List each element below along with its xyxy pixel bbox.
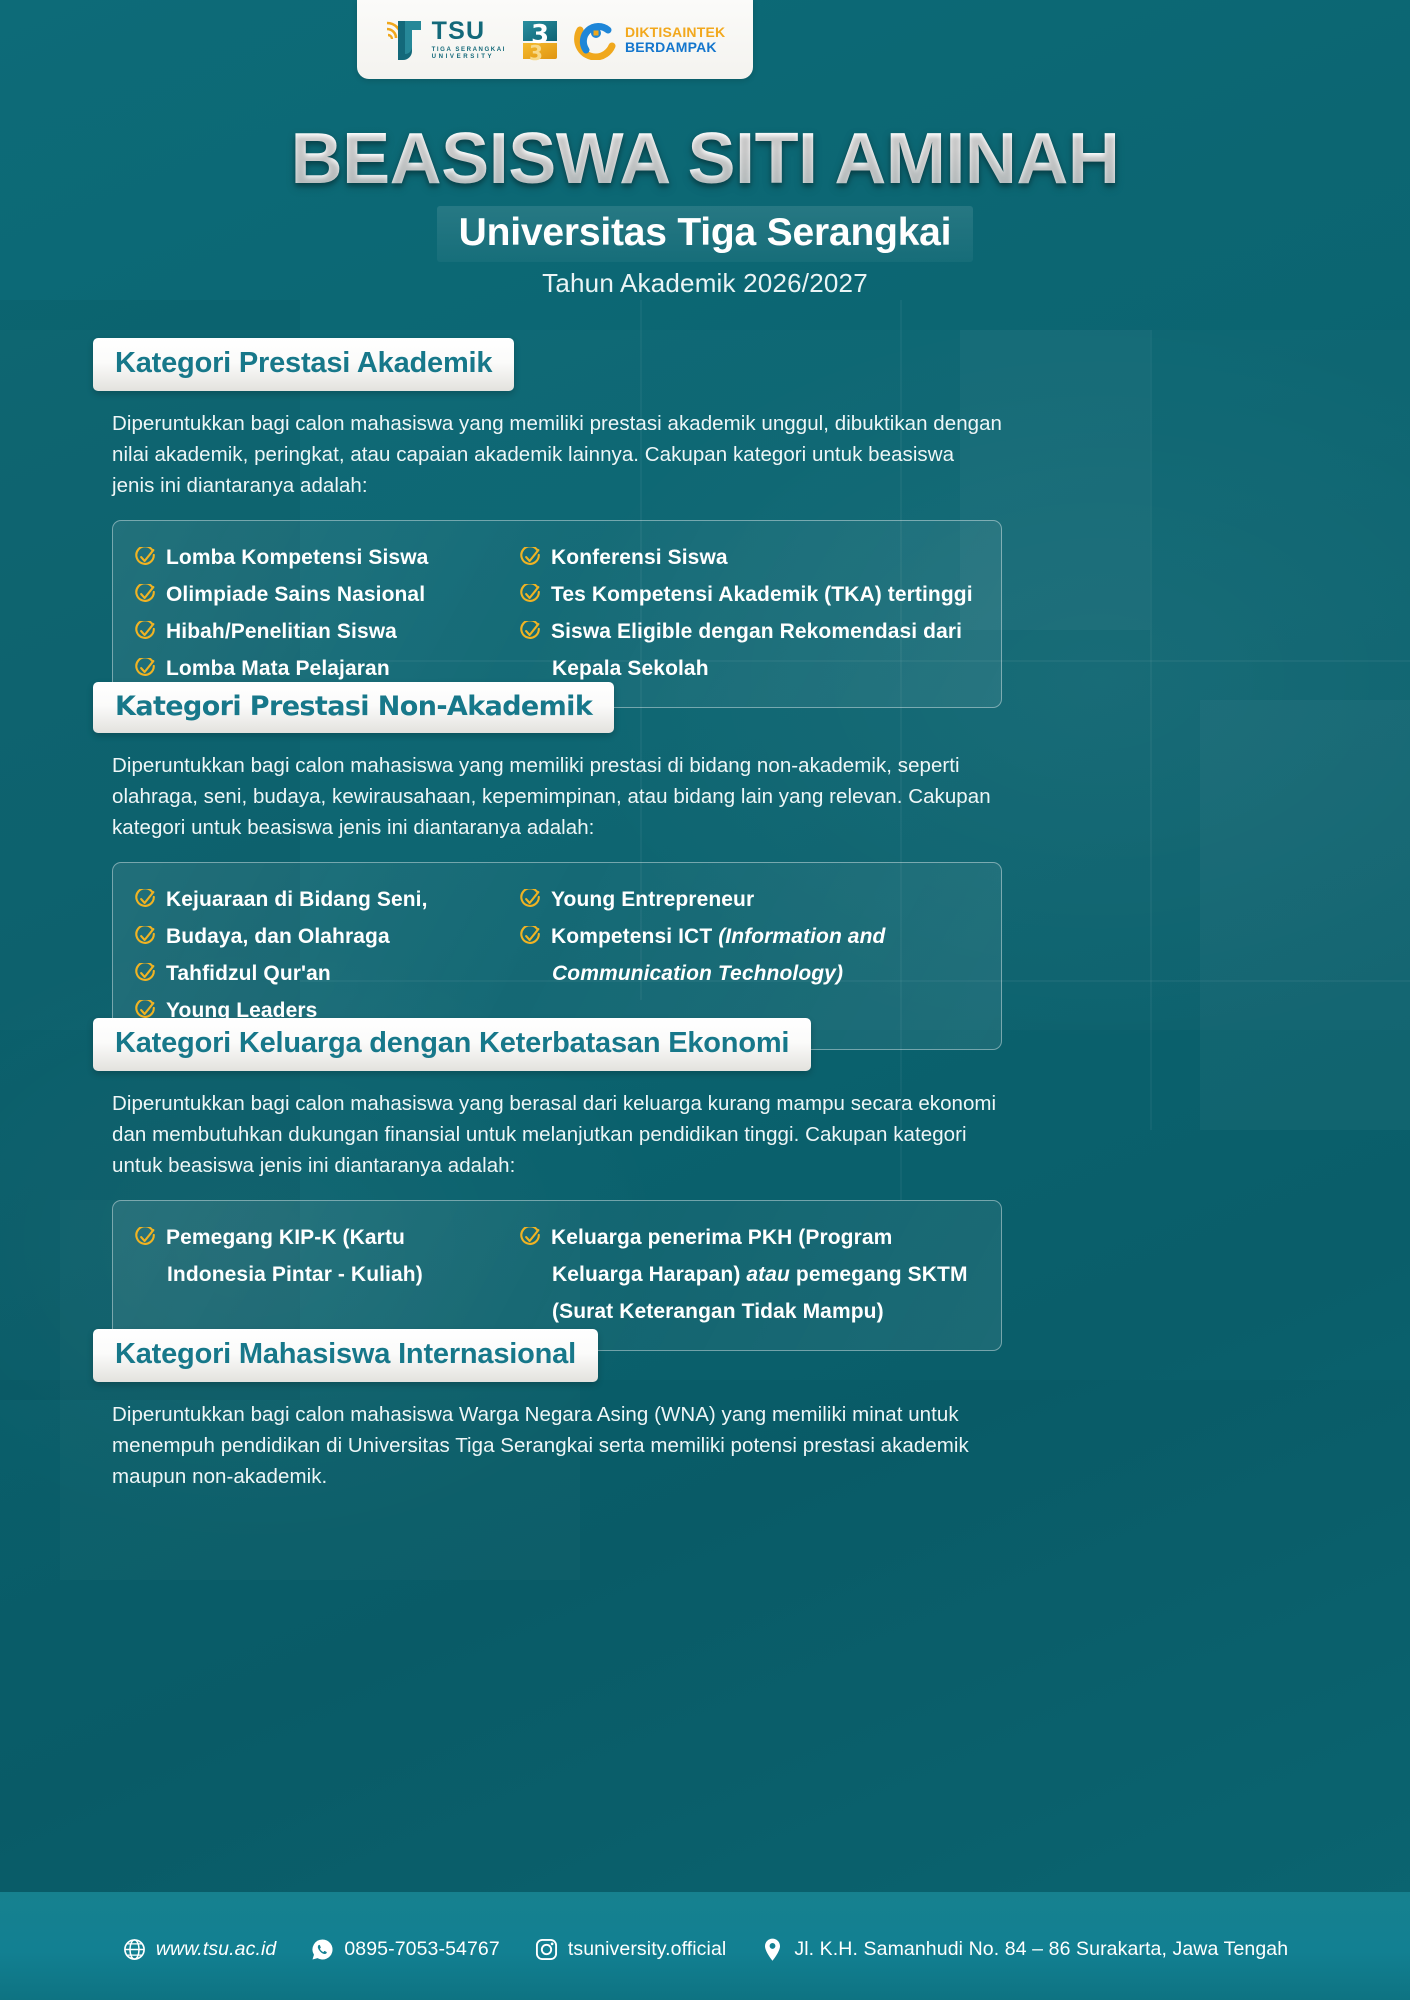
section-3-left-column: Pemegang KIP-K (Kartu Indonesia Pintar -…: [135, 1219, 510, 1330]
footer-address-label: Jl. K.H. Samanhudi No. 84 – 86 Surakarta…: [794, 1938, 1288, 1961]
check-circle-icon: [520, 926, 541, 947]
whatsapp-icon: [310, 1937, 335, 1962]
tsu-line2: UNIVERSITY: [432, 54, 506, 60]
check-circle-icon: [135, 658, 156, 679]
list-item-plain: Keluarga Harapan): [552, 1263, 746, 1286]
list-item-plain: Kompetensi ICT: [551, 925, 718, 948]
diktisaintek-line2: BERDAMPAK: [625, 40, 725, 55]
footer-address: Jl. K.H. Samanhudi No. 84 – 86 Surakarta…: [760, 1937, 1288, 1962]
list-item-label: Budaya, dan Olahraga: [166, 921, 510, 953]
list-item-label: Kejuaraan di Bidang Seni,: [166, 884, 510, 916]
section-mahasiswa-internasional: Kategori Mahasiswa Internasional Diperun…: [0, 1329, 1410, 1492]
footer-instagram[interactable]: tsuniversity.official: [534, 1937, 727, 1962]
list-item-label: Kompetensi ICT (Information and: [551, 921, 977, 953]
list-item-label: Siswa Eligible dengan Rekomendasi dari: [551, 616, 977, 648]
list-item: Tahfidzul Qur'an: [135, 955, 510, 992]
academic-year: Tahun Akademik 2026/2027: [0, 268, 1410, 299]
section-3-description: Diperuntukkan bagi calon mahasiswa yang …: [112, 1088, 1002, 1181]
list-item-label: Hibah/Penelitian Siswa: [166, 616, 510, 648]
check-circle-icon: [520, 889, 541, 910]
tsu-wordmark: TSU TIGA SERANGKAI UNIVERSITY: [432, 19, 506, 61]
list-item-label: Lomba Kompetensi Siswa: [166, 542, 510, 574]
tiga-serangkai-3-icon: 3 3: [519, 17, 561, 63]
list-item-label: Pemegang KIP-K (Kartu: [166, 1222, 510, 1254]
list-item-label: (Surat Keterangan Tidak Mampu): [552, 1296, 977, 1328]
list-item-label: Young Entrepreneur: [551, 884, 977, 916]
tsu-abbr: TSU: [432, 19, 506, 44]
list-item-label: Indonesia Pintar - Kuliah): [167, 1259, 510, 1291]
footer-phone[interactable]: 0895-7053-54767: [310, 1937, 499, 1962]
tsu-logo: TSU TIGA SERANGKAI UNIVERSITY: [385, 17, 506, 63]
location-pin-icon: [760, 1937, 785, 1962]
check-circle-icon: [135, 1227, 156, 1248]
section-1-right-column: Konferensi Siswa Tes Kompetensi Akademik…: [520, 539, 977, 687]
check-circle-icon: [520, 1227, 541, 1248]
list-item-italic: (Information and: [718, 925, 885, 948]
list-item: Kompetensi ICT (Information and: [520, 918, 977, 955]
check-circle-icon: [135, 926, 156, 947]
list-item-continuation: (Surat Keterangan Tidak Mampu): [520, 1293, 977, 1330]
diktisaintek-logo: DIKTISAINTEK BERDAMPAK: [574, 20, 725, 60]
diktisaintek-line1: DIKTISAINTEK: [625, 25, 725, 40]
list-item-plain2: pemegang SKTM: [790, 1263, 968, 1286]
subtitle-wrap: Universitas Tiga Serangkai: [0, 206, 1410, 262]
section-2-description: Diperuntukkan bagi calon mahasiswa yang …: [112, 750, 1002, 843]
check-circle-icon: [135, 963, 156, 984]
list-item: Young Entrepreneur: [520, 881, 977, 918]
list-item-label: Kepala Sekolah: [552, 653, 977, 685]
section-3-right-column: Keluarga penerima PKH (Program Keluarga …: [520, 1219, 977, 1330]
list-item-label: Tahfidzul Qur'an: [166, 958, 510, 990]
list-item-label: Olimpiade Sains Nasional: [166, 579, 510, 611]
page-subtitle: Universitas Tiga Serangkai: [437, 206, 974, 262]
section-1-list-box: Lomba Kompetensi Siswa Olimpiade Sains N…: [112, 520, 1002, 708]
tsu-line1: TIGA SERANGKAI: [432, 47, 506, 53]
list-item: Olimpiade Sains Nasional: [135, 576, 510, 613]
list-item: Tes Kompetensi Akademik (TKA) tertinggi: [520, 576, 977, 613]
page-title: BEASISWA SITI AMINAH: [0, 118, 1410, 200]
list-item-label: Tes Kompetensi Akademik (TKA) tertinggi: [551, 579, 977, 611]
section-1-left-column: Lomba Kompetensi Siswa Olimpiade Sains N…: [135, 539, 510, 687]
diktisaintek-mark-icon: [574, 20, 618, 60]
instagram-icon: [534, 1937, 559, 1962]
section-2-left-column: Kejuaraan di Bidang Seni, Budaya, dan Ol…: [135, 881, 510, 1029]
list-item: Keluarga penerima PKH (Program: [520, 1219, 977, 1256]
section-prestasi-akademik: Kategori Prestasi Akademik Diperuntukkan…: [0, 338, 1410, 708]
footer-website[interactable]: www.tsu.ac.id: [122, 1937, 277, 1962]
section-4-description: Diperuntukkan bagi calon mahasiswa Warga…: [112, 1399, 1002, 1492]
footer-phone-label: 0895-7053-54767: [344, 1938, 499, 1961]
list-item-continuation: Indonesia Pintar - Kuliah): [135, 1256, 510, 1293]
list-item: Pemegang KIP-K (Kartu: [135, 1219, 510, 1256]
section-keluarga-ekonomi: Kategori Keluarga dengan Keterbatasan Ek…: [0, 1018, 1410, 1351]
list-item-italic: atau: [746, 1263, 790, 1286]
list-item: Hibah/Penelitian Siswa: [135, 613, 510, 650]
section-3-heading: Kategori Keluarga dengan Keterbatasan Ek…: [93, 1018, 811, 1071]
list-item-continuation: Keluarga Harapan) atau pemegang SKTM: [520, 1256, 977, 1293]
check-circle-icon: [135, 584, 156, 605]
poster-root: TSU TIGA SERANGKAI UNIVERSITY 3 3: [0, 0, 1410, 2000]
list-item-italic: Communication Technology): [552, 962, 843, 985]
list-item-label: Keluarga penerima PKH (Program: [551, 1222, 977, 1254]
svg-text:3: 3: [529, 41, 543, 63]
check-circle-icon: [520, 547, 541, 568]
section-prestasi-non-akademik: Kategori Prestasi Non-Akademik Diperuntu…: [0, 682, 1410, 1050]
section-2-heading: Kategori Prestasi Non-Akademik: [93, 682, 614, 733]
diktisaintek-wordmark: DIKTISAINTEK BERDAMPAK: [625, 25, 725, 55]
check-circle-icon: [135, 547, 156, 568]
list-item-label: Lomba Mata Pelajaran: [166, 653, 510, 685]
footer-bar: www.tsu.ac.id 0895-7053-54767 tsuniversi…: [0, 1892, 1410, 2000]
list-item: Lomba Kompetensi Siswa: [135, 539, 510, 576]
footer-website-label: www.tsu.ac.id: [156, 1938, 277, 1961]
check-circle-icon: [520, 584, 541, 605]
list-item-continuation: Communication Technology): [520, 955, 977, 992]
list-item: Budaya, dan Olahraga: [135, 918, 510, 955]
section-1-description: Diperuntukkan bagi calon mahasiswa yang …: [112, 408, 1002, 501]
check-circle-icon: [135, 889, 156, 910]
section-4-heading: Kategori Mahasiswa Internasional: [93, 1329, 598, 1382]
list-item: Kejuaraan di Bidang Seni,: [135, 881, 510, 918]
section-1-heading: Kategori Prestasi Akademik: [93, 338, 514, 391]
check-circle-icon: [520, 621, 541, 642]
list-item: Konferensi Siswa: [520, 539, 977, 576]
list-item: Siswa Eligible dengan Rekomendasi dari: [520, 613, 977, 650]
logo-bar: TSU TIGA SERANGKAI UNIVERSITY 3 3: [357, 0, 753, 79]
list-item-label: Konferensi Siswa: [551, 542, 977, 574]
footer-instagram-label: tsuniversity.official: [568, 1938, 727, 1961]
section-2-right-column: Young Entrepreneur Kompetensi ICT (Infor…: [520, 881, 977, 1029]
check-circle-icon: [135, 621, 156, 642]
tsu-mark-icon: [385, 17, 425, 63]
globe-icon: [122, 1937, 147, 1962]
